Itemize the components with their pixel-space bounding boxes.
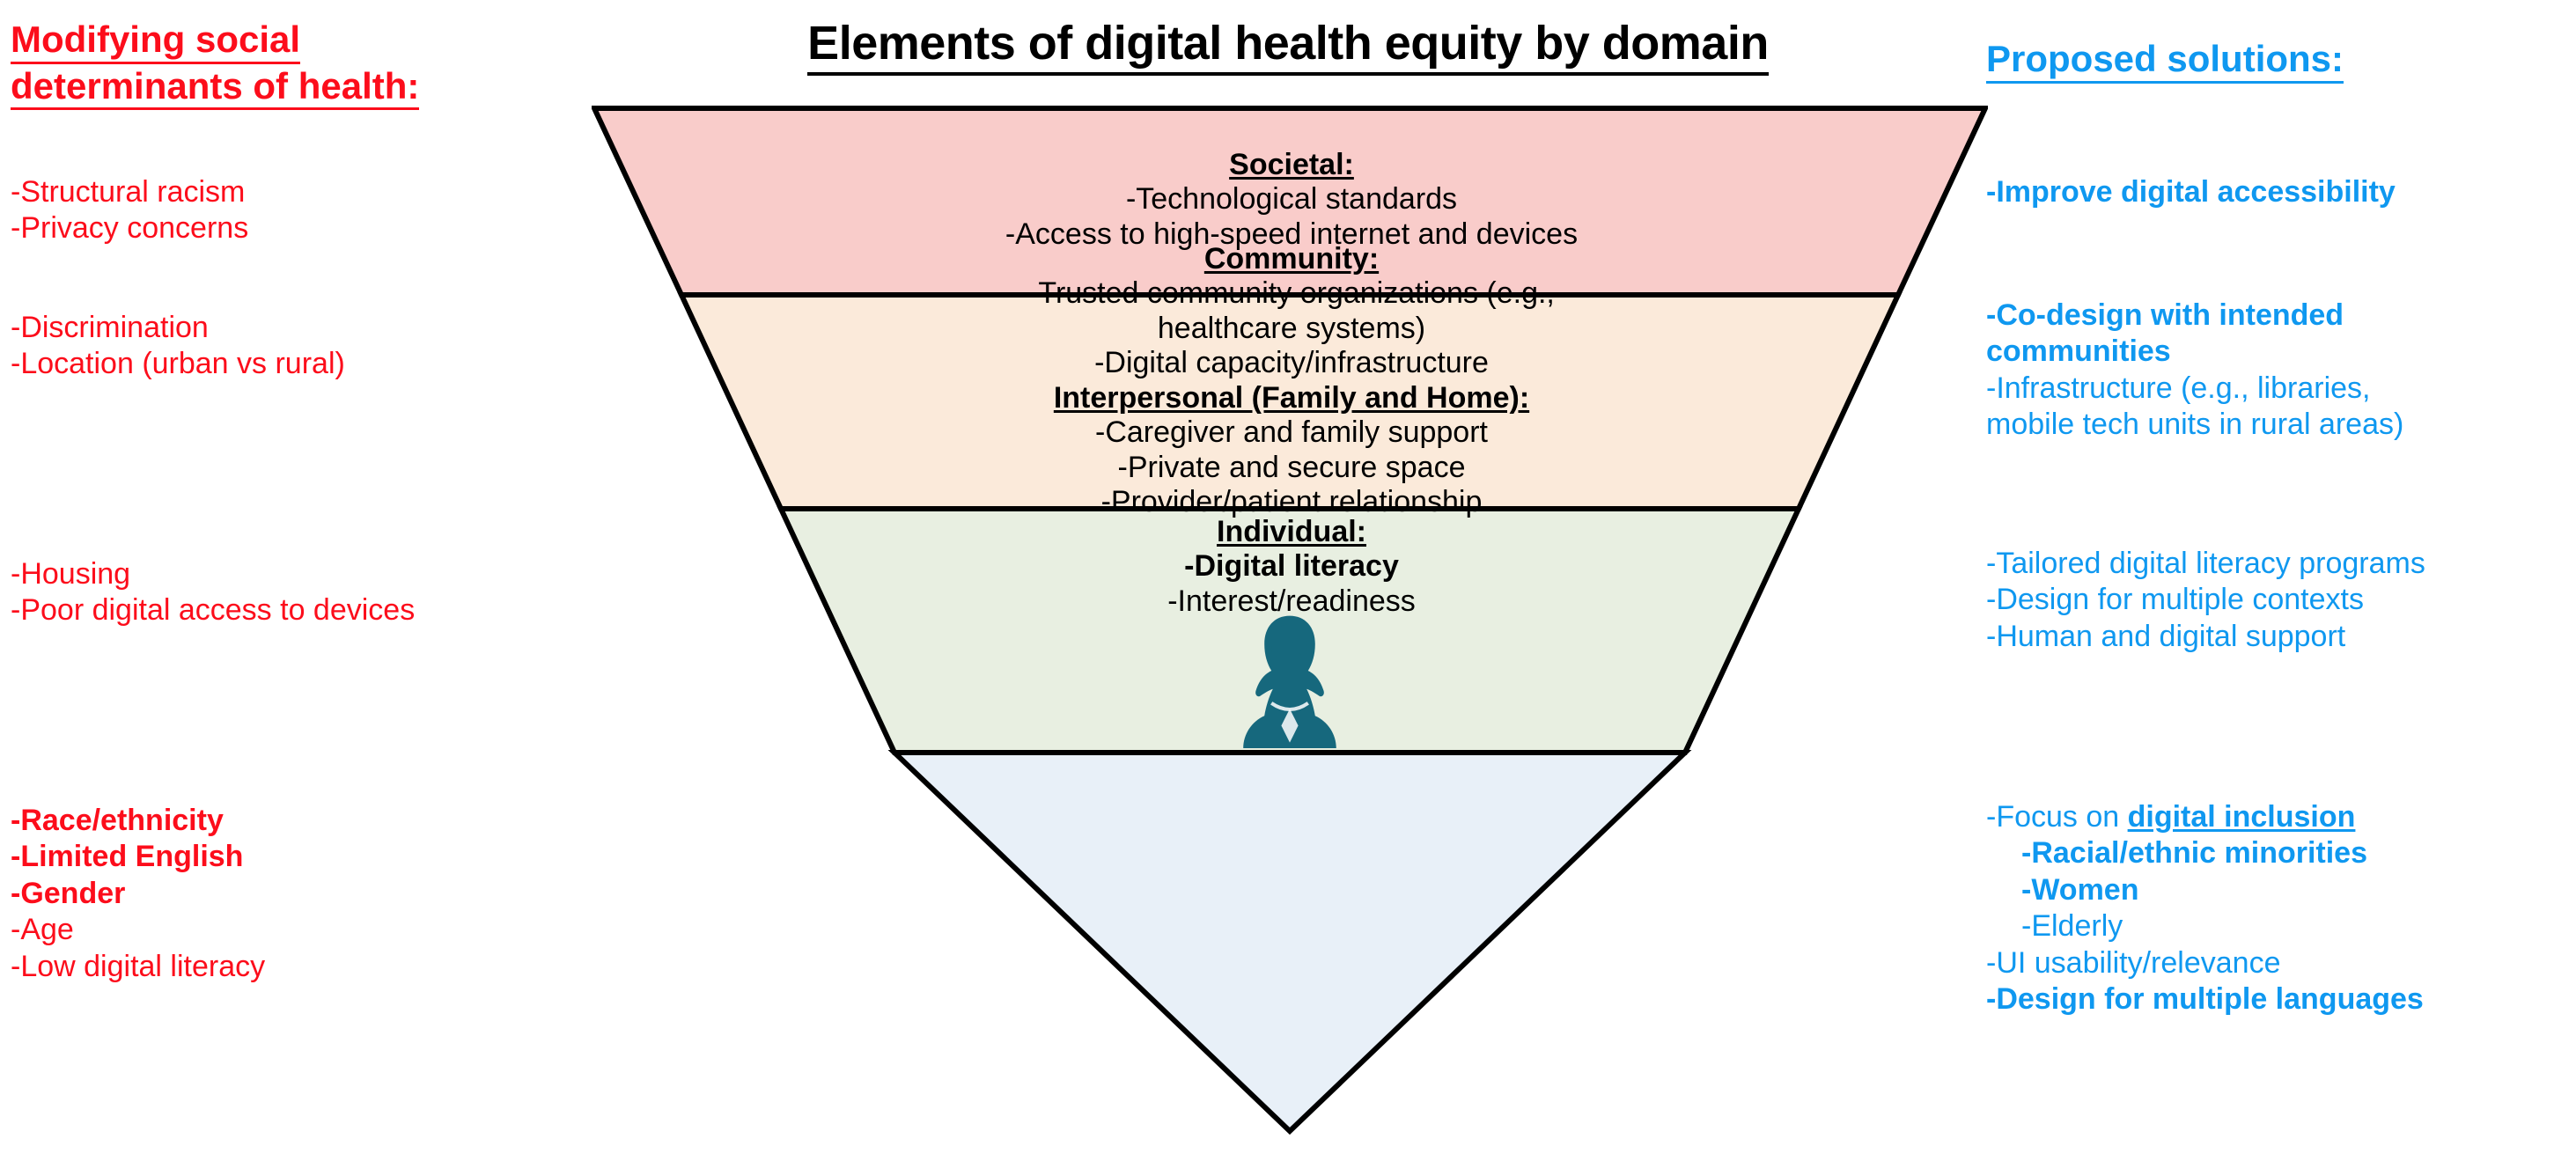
- person-woman-icon: [1219, 607, 1360, 748]
- band-societal-heading: Societal:: [785, 148, 1798, 182]
- list-item: -Gender: [11, 876, 265, 912]
- right-group-societal: -Improve digital accessibility: [1986, 174, 2396, 210]
- list-item: -Tailored digital literacy programs: [1986, 546, 2425, 582]
- right-group-interpersonal: -Tailored digital literacy programs -Des…: [1986, 546, 2425, 655]
- list-item: -Design for multiple languages: [1986, 981, 2424, 1018]
- list-item: -Poor digital access to devices: [11, 592, 415, 628]
- left-column-heading: Modifying social determinants of health:: [11, 18, 592, 110]
- list-item: -Low digital literacy: [11, 949, 265, 985]
- band-individual-shape: [894, 753, 1685, 1131]
- list-item: -Racial/ethnic minorities: [1986, 835, 2424, 871]
- list-item: -Focus on digital inclusion: [1986, 799, 2424, 835]
- list-item-prefix: -Focus on: [1986, 800, 2128, 834]
- list-item: -Co-design with intended: [1986, 298, 2403, 334]
- list-item-emphasis: digital inclusion: [2128, 800, 2356, 834]
- list-item: -Human and digital support: [1986, 619, 2425, 655]
- left-group-societal: -Structural racism -Privacy concerns: [11, 174, 248, 247]
- left-group-interpersonal: -Housing -Poor digital access to devices: [11, 556, 415, 629]
- band-community-text: Community: -Trusted community organizati…: [847, 242, 1736, 381]
- list-item: -Privacy concerns: [11, 210, 248, 246]
- list-item: -Race/ethnicity: [11, 803, 265, 839]
- list-item: -Age: [11, 912, 265, 948]
- right-group-community: -Co-design with intended communities -In…: [1986, 298, 2403, 444]
- right-heading-text: Proposed solutions:: [1986, 37, 2344, 84]
- band-individual-heading: Individual:: [944, 515, 1639, 549]
- list-item: mobile tech units in rural areas): [1986, 407, 2403, 443]
- list-item: communities: [1986, 334, 2403, 370]
- band-community-line: -Trusted community organizations (e.g.,: [847, 276, 1736, 311]
- right-group-individual: -Focus on digital inclusion -Racial/ethn…: [1986, 799, 2424, 1018]
- left-heading-line-1: Modifying social: [11, 18, 300, 64]
- list-item: -Housing: [11, 556, 415, 592]
- right-column-heading: Proposed solutions:: [1986, 37, 2576, 84]
- band-individual-line: -Digital literacy: [944, 549, 1639, 584]
- band-interpersonal-line: -Caregiver and family support: [882, 415, 1701, 450]
- list-item: -Discrimination: [11, 310, 345, 346]
- band-societal-line: -Technological standards: [785, 182, 1798, 217]
- left-group-community: -Discrimination -Location (urban vs rura…: [11, 310, 345, 383]
- list-item: -Women: [1986, 872, 2424, 908]
- band-interpersonal-line: -Private and secure space: [882, 451, 1701, 485]
- left-group-individual: -Race/ethnicity -Limited English -Gender…: [11, 803, 265, 985]
- list-item: -Location (urban vs rural): [11, 346, 345, 382]
- band-individual-text: Individual: -Digital literacy -Interest/…: [944, 515, 1639, 619]
- band-interpersonal-heading: Interpersonal (Family and Home):: [882, 381, 1701, 415]
- band-societal-text: Societal: -Technological standards -Acce…: [785, 148, 1798, 252]
- list-item: -Improve digital accessibility: [1986, 174, 2396, 210]
- band-community-heading: Community:: [847, 242, 1736, 276]
- band-community-line: healthcare systems): [847, 312, 1736, 346]
- list-item: -Design for multiple contexts: [1986, 582, 2425, 618]
- inverted-pyramid-diagram: Societal: -Technological standards -Acce…: [592, 106, 1988, 1137]
- list-item: -Infrastructure (e.g., libraries,: [1986, 371, 2403, 407]
- list-item: -UI usability/relevance: [1986, 945, 2424, 981]
- page-title-text: Elements of digital health equity by dom…: [807, 16, 1769, 76]
- band-community-line: -Digital capacity/infrastructure: [847, 346, 1736, 380]
- list-item: -Elderly: [1986, 908, 2424, 944]
- band-interpersonal-text: Interpersonal (Family and Home): -Caregi…: [882, 381, 1701, 520]
- left-heading-line-2: determinants of health:: [11, 64, 419, 111]
- list-item: -Structural racism: [11, 174, 248, 210]
- list-item: -Limited English: [11, 839, 265, 875]
